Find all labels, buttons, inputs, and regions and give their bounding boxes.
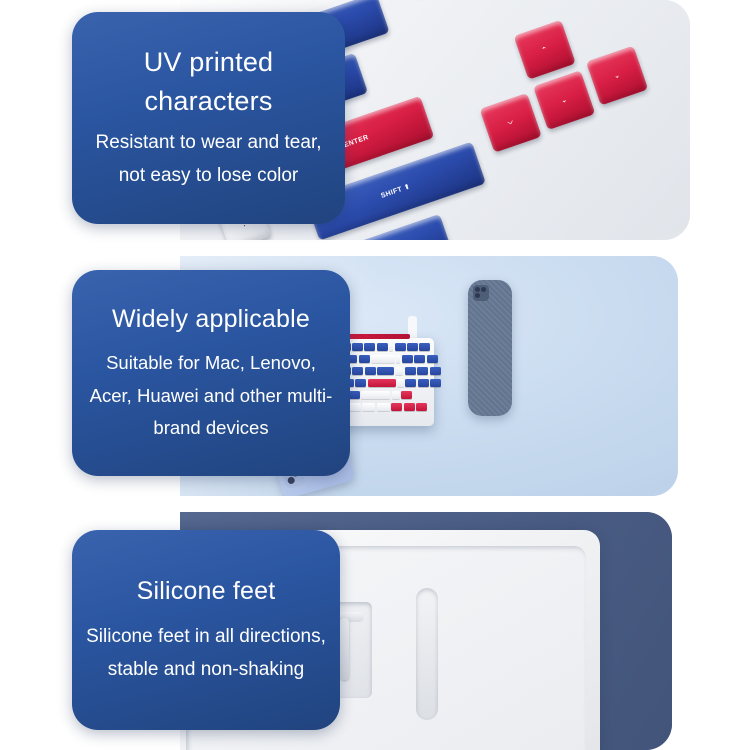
- feature-panel-uv-printed-characters: ) ] . BACK ⌫ | | ENTER SHIFT ⬆ CTRL DEL …: [0, 0, 750, 240]
- feature-title: Widely applicable: [96, 302, 326, 338]
- feature-panels-page: ) ] . BACK ⌫ | | ENTER SHIFT ⬆ CTRL DEL …: [0, 0, 750, 750]
- feature-card-widely-applicable: Widely applicable Suitable for Mac, Leno…: [72, 270, 350, 476]
- feature-panel-widely-applicable: Widely applicable Suitable for Mac, Leno…: [0, 256, 750, 496]
- silicone-side-foot: [416, 588, 438, 720]
- feature-description: Silicone feet in all directions, stable …: [72, 620, 340, 687]
- feature-title: UV printed characters: [72, 43, 345, 120]
- tablet-device: [468, 280, 512, 416]
- feature-panel-silicone-feet: Silicone feet Silicone feet in all direc…: [0, 512, 750, 750]
- feature-card-uv-printed-characters: UV printed characters Resistant to wear …: [72, 12, 345, 224]
- feature-card-silicone-feet: Silicone feet Silicone feet in all direc…: [72, 530, 340, 730]
- feature-description: Resistant to wear and tear, not easy to …: [72, 126, 345, 193]
- feature-description: Suitable for Mac, Lenovo, Acer, Huawei a…: [72, 347, 350, 444]
- feature-title: Silicone feet: [121, 574, 292, 610]
